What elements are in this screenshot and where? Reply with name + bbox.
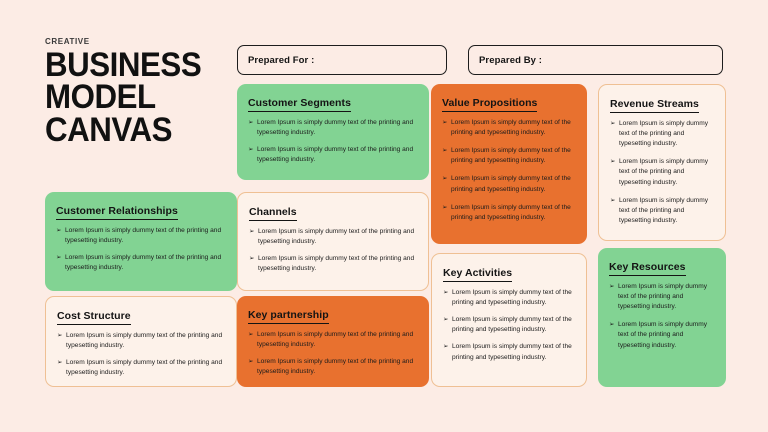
- arrow-bullet-icon: ➢: [610, 119, 619, 129]
- card-bullet-text: Lorem Ipsum is simply dummy text of the …: [258, 227, 417, 247]
- card-bullet-item: ➢Lorem Ipsum is simply dummy text of the…: [442, 174, 576, 194]
- card-bullet-item: ➢Lorem Ipsum is simply dummy text of the…: [443, 315, 575, 335]
- card-bullet-text: Lorem Ipsum is simply dummy text of the …: [451, 174, 576, 194]
- card-bullet-item: ➢Lorem Ipsum is simply dummy text of the…: [443, 342, 575, 362]
- page-title-line-3: CANVAS: [45, 114, 220, 146]
- card-bullet-item: ➢Lorem Ipsum is simply dummy text of the…: [609, 282, 715, 313]
- arrow-bullet-icon: ➢: [442, 174, 451, 184]
- card-bullet-item: ➢Lorem Ipsum is simply dummy text of the…: [443, 288, 575, 308]
- card-bullet-item: ➢Lorem Ipsum is simply dummy text of the…: [57, 331, 225, 351]
- card-bullet-text: Lorem Ipsum is simply dummy text of the …: [257, 145, 418, 165]
- card-bullet-item: ➢Lorem Ipsum is simply dummy text of the…: [248, 145, 418, 165]
- card-title: Channels: [249, 207, 297, 221]
- card-bullet-text: Lorem Ipsum is simply dummy text of the …: [451, 118, 576, 138]
- card-key-resources[interactable]: Key Resources ➢Lorem Ipsum is simply dum…: [598, 248, 726, 387]
- arrow-bullet-icon: ➢: [443, 342, 452, 352]
- arrow-bullet-icon: ➢: [442, 146, 451, 156]
- arrow-bullet-icon: ➢: [248, 357, 257, 367]
- arrow-bullet-icon: ➢: [610, 157, 619, 167]
- card-title: Revenue Streams: [610, 99, 699, 113]
- card-bullet-text: Lorem Ipsum is simply dummy text of the …: [619, 196, 714, 227]
- card-title: Key Resources: [609, 262, 686, 276]
- card-key-activities[interactable]: Key Activities ➢Lorem Ipsum is simply du…: [431, 253, 587, 387]
- card-bullet-item: ➢Lorem Ipsum is simply dummy text of the…: [248, 357, 418, 377]
- card-bullet-text: Lorem Ipsum is simply dummy text of the …: [452, 315, 575, 335]
- card-bullet-item: ➢Lorem Ipsum is simply dummy text of the…: [610, 157, 714, 188]
- card-bullet-list: ➢Lorem Ipsum is simply dummy text of the…: [442, 118, 576, 224]
- card-bullet-text: Lorem Ipsum is simply dummy text of the …: [452, 342, 575, 362]
- card-bullet-list: ➢Lorem Ipsum is simply dummy text of the…: [249, 227, 417, 275]
- card-bullet-item: ➢Lorem Ipsum is simply dummy text of the…: [56, 253, 226, 273]
- card-cost-structure[interactable]: Cost Structure ➢Lorem Ipsum is simply du…: [45, 296, 237, 387]
- arrow-bullet-icon: ➢: [57, 358, 66, 368]
- card-customer-segments[interactable]: Customer Segments ➢Lorem Ipsum is simply…: [237, 84, 429, 180]
- card-bullet-item: ➢Lorem Ipsum is simply dummy text of the…: [442, 118, 576, 138]
- card-value-propositions[interactable]: Value Propositions ➢Lorem Ipsum is simpl…: [431, 84, 587, 244]
- card-bullet-list: ➢Lorem Ipsum is simply dummy text of the…: [56, 226, 226, 274]
- arrow-bullet-icon: ➢: [56, 226, 65, 236]
- card-bullet-item: ➢Lorem Ipsum is simply dummy text of the…: [610, 119, 714, 150]
- arrow-bullet-icon: ➢: [443, 288, 452, 298]
- card-bullet-item: ➢Lorem Ipsum is simply dummy text of the…: [609, 320, 715, 351]
- card-bullet-list: ➢Lorem Ipsum is simply dummy text of the…: [609, 282, 715, 351]
- card-bullet-list: ➢Lorem Ipsum is simply dummy text of the…: [248, 118, 418, 166]
- title-block: CREATIVE BUSINESS MODEL CANVAS: [45, 38, 235, 146]
- card-bullet-text: Lorem Ipsum is simply dummy text of the …: [65, 226, 226, 246]
- page-title-line-1: BUSINESS: [45, 49, 220, 81]
- card-title: Value Propositions: [442, 98, 537, 112]
- page-title: BUSINESS MODEL CANVAS: [45, 49, 220, 146]
- business-model-canvas-slide: CREATIVE BUSINESS MODEL CANVAS Prepared …: [0, 0, 768, 432]
- card-title: Customer Relationships: [56, 206, 178, 220]
- eyebrow-label: CREATIVE: [45, 38, 235, 46]
- prepared-for-label: Prepared For :: [248, 55, 314, 66]
- arrow-bullet-icon: ➢: [609, 282, 618, 292]
- arrow-bullet-icon: ➢: [442, 203, 451, 213]
- card-bullet-item: ➢Lorem Ipsum is simply dummy text of the…: [56, 226, 226, 246]
- card-bullet-text: Lorem Ipsum is simply dummy text of the …: [619, 119, 714, 150]
- card-bullet-item: ➢Lorem Ipsum is simply dummy text of the…: [57, 358, 225, 378]
- arrow-bullet-icon: ➢: [248, 145, 257, 155]
- card-bullet-text: Lorem Ipsum is simply dummy text of the …: [619, 157, 714, 188]
- prepared-by-label: Prepared By :: [479, 55, 542, 66]
- card-bullet-text: Lorem Ipsum is simply dummy text of the …: [257, 118, 418, 138]
- card-revenue-streams[interactable]: Revenue Streams ➢Lorem Ipsum is simply d…: [598, 84, 726, 241]
- prepared-by-field[interactable]: Prepared By :: [468, 45, 723, 75]
- card-bullet-text: Lorem Ipsum is simply dummy text of the …: [65, 253, 226, 273]
- card-bullet-list: ➢Lorem Ipsum is simply dummy text of the…: [248, 330, 418, 378]
- card-bullet-list: ➢Lorem Ipsum is simply dummy text of the…: [57, 331, 225, 379]
- card-bullet-text: Lorem Ipsum is simply dummy text of the …: [452, 288, 575, 308]
- card-bullet-item: ➢Lorem Ipsum is simply dummy text of the…: [248, 330, 418, 350]
- card-bullet-text: Lorem Ipsum is simply dummy text of the …: [451, 146, 576, 166]
- card-bullet-item: ➢Lorem Ipsum is simply dummy text of the…: [442, 203, 576, 223]
- card-bullet-text: Lorem Ipsum is simply dummy text of the …: [257, 330, 418, 350]
- arrow-bullet-icon: ➢: [249, 254, 258, 264]
- arrow-bullet-icon: ➢: [248, 330, 257, 340]
- card-bullet-text: Lorem Ipsum is simply dummy text of the …: [66, 331, 225, 351]
- card-key-partnership[interactable]: Key partnership ➢Lorem Ipsum is simply d…: [237, 296, 429, 387]
- card-bullet-item: ➢Lorem Ipsum is simply dummy text of the…: [442, 146, 576, 166]
- page-title-line-2: MODEL: [45, 81, 220, 113]
- card-bullet-text: Lorem Ipsum is simply dummy text of the …: [618, 282, 715, 313]
- card-bullet-item: ➢Lorem Ipsum is simply dummy text of the…: [249, 227, 417, 247]
- card-title: Key partnership: [248, 310, 329, 324]
- card-bullet-item: ➢Lorem Ipsum is simply dummy text of the…: [248, 118, 418, 138]
- arrow-bullet-icon: ➢: [56, 253, 65, 263]
- arrow-bullet-icon: ➢: [249, 227, 258, 237]
- arrow-bullet-icon: ➢: [443, 315, 452, 325]
- card-bullet-text: Lorem Ipsum is simply dummy text of the …: [618, 320, 715, 351]
- card-bullet-list: ➢Lorem Ipsum is simply dummy text of the…: [443, 288, 575, 363]
- card-title: Key Activities: [443, 268, 512, 282]
- card-bullet-item: ➢Lorem Ipsum is simply dummy text of the…: [249, 254, 417, 274]
- card-customer-relationships[interactable]: Customer Relationships ➢Lorem Ipsum is s…: [45, 192, 237, 291]
- arrow-bullet-icon: ➢: [442, 118, 451, 128]
- card-bullet-item: ➢Lorem Ipsum is simply dummy text of the…: [610, 196, 714, 227]
- arrow-bullet-icon: ➢: [610, 196, 619, 206]
- card-channels[interactable]: Channels ➢Lorem Ipsum is simply dummy te…: [237, 192, 429, 291]
- card-title: Customer Segments: [248, 98, 351, 112]
- card-bullet-text: Lorem Ipsum is simply dummy text of the …: [258, 254, 417, 274]
- card-title: Cost Structure: [57, 311, 131, 325]
- arrow-bullet-icon: ➢: [248, 118, 257, 128]
- arrow-bullet-icon: ➢: [57, 331, 66, 341]
- card-bullet-list: ➢Lorem Ipsum is simply dummy text of the…: [610, 119, 714, 227]
- card-bullet-text: Lorem Ipsum is simply dummy text of the …: [257, 357, 418, 377]
- card-bullet-text: Lorem Ipsum is simply dummy text of the …: [66, 358, 225, 378]
- card-bullet-text: Lorem Ipsum is simply dummy text of the …: [451, 203, 576, 223]
- prepared-for-field[interactable]: Prepared For :: [237, 45, 447, 75]
- arrow-bullet-icon: ➢: [609, 320, 618, 330]
